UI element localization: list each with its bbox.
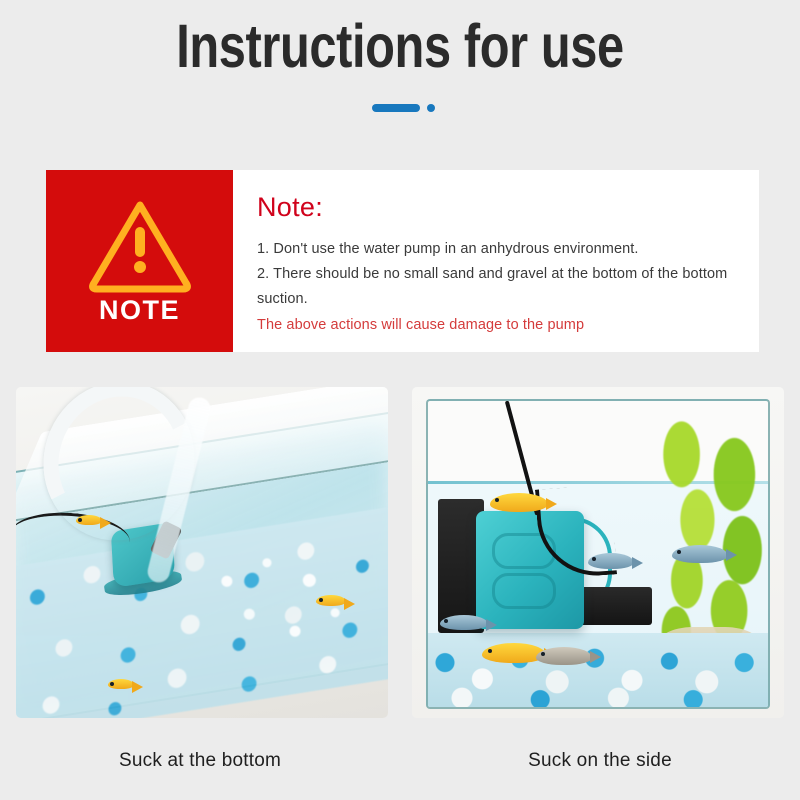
note-item-2: 2. There should be no small sand and gra… [257, 262, 745, 312]
fish-tail [546, 498, 557, 510]
fish-body [672, 545, 728, 563]
pump-outlet [578, 587, 652, 625]
fish-eye [319, 598, 323, 602]
fish-tail [486, 619, 497, 631]
divider-bar [372, 104, 420, 112]
fish [76, 515, 102, 525]
fish [672, 545, 728, 563]
fish [588, 553, 634, 569]
note-item-1: 1. Don't use the water pump in an anhydr… [257, 237, 745, 262]
note-warning-text: The above actions will cause damage to t… [257, 313, 745, 338]
fish-tail [590, 651, 601, 663]
note-heading: Note: [257, 192, 745, 223]
note-body: Note: 1. Don't use the water pump in an … [233, 170, 759, 352]
fish [536, 647, 592, 665]
fish [108, 679, 134, 689]
divider-dot [427, 104, 435, 112]
fish-eye [488, 649, 492, 653]
caption-side-suction: Suck on the side [400, 750, 800, 772]
photo-row [0, 387, 800, 718]
fish-tail [726, 549, 737, 561]
warning-triangle-icon [86, 197, 194, 293]
aquarium-side-suction-photo [412, 387, 784, 718]
aquarium-bottom-suction-photo [16, 387, 388, 718]
caption-bottom-suction: Suck at the bottom [0, 750, 400, 772]
page-title: Instructions for use [80, 14, 720, 78]
gravel-bed [428, 633, 768, 707]
fish-tail [132, 681, 143, 693]
note-card: NOTE Note: 1. Don't use the water pump i… [46, 170, 759, 352]
fish-tail [100, 517, 111, 529]
fish-tail [632, 557, 643, 569]
aquarium-plant [642, 409, 770, 661]
glass-tank [426, 399, 770, 709]
note-badge-label: NOTE [99, 295, 180, 326]
section-divider [0, 102, 800, 116]
product-instruction-page: { "header": { "title": "Instructions for… [0, 0, 800, 800]
fish-body [490, 493, 548, 512]
fish [490, 493, 548, 512]
fish [316, 595, 346, 606]
fish-tail [344, 598, 355, 610]
note-badge: NOTE [46, 170, 233, 352]
page-header: Instructions for use [0, 0, 800, 78]
fish-body [588, 553, 634, 569]
caption-row: Suck at the bottom Suck on the side [0, 750, 800, 772]
fish-body [536, 647, 592, 665]
fish [440, 615, 488, 630]
